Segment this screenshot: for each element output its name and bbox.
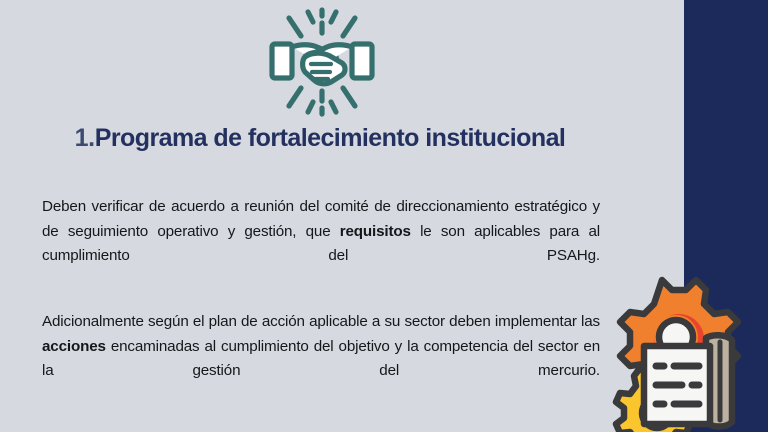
heading-number: 1.: [75, 124, 95, 152]
handshake-icon: [258, 6, 386, 118]
document-sheet: [644, 346, 710, 424]
body-paragraph-2: Adicionalmente según el plan de acción a…: [42, 310, 600, 408]
body-paragraph-1: Deben verificar de acuerdo a reunión del…: [42, 195, 600, 293]
slide-canvas: 1.Programa de fortalecimiento institucio…: [0, 0, 768, 432]
page-title: 1.Programa de fortalecimiento institucio…: [0, 126, 640, 151]
gears-document-icon: [600, 272, 768, 432]
paragraph-2-text-part-2: encaminadas al cumplimiento del objetivo…: [42, 338, 600, 380]
paragraph-1-bold-requisitos: requisitos: [340, 223, 411, 240]
heading-title: Programa de fortalecimiento instituciona…: [95, 124, 566, 152]
paragraph-2-text-part-1: Adicionalmente según el plan de acción a…: [42, 313, 600, 330]
paragraph-2-bold-acciones: acciones: [42, 338, 106, 355]
